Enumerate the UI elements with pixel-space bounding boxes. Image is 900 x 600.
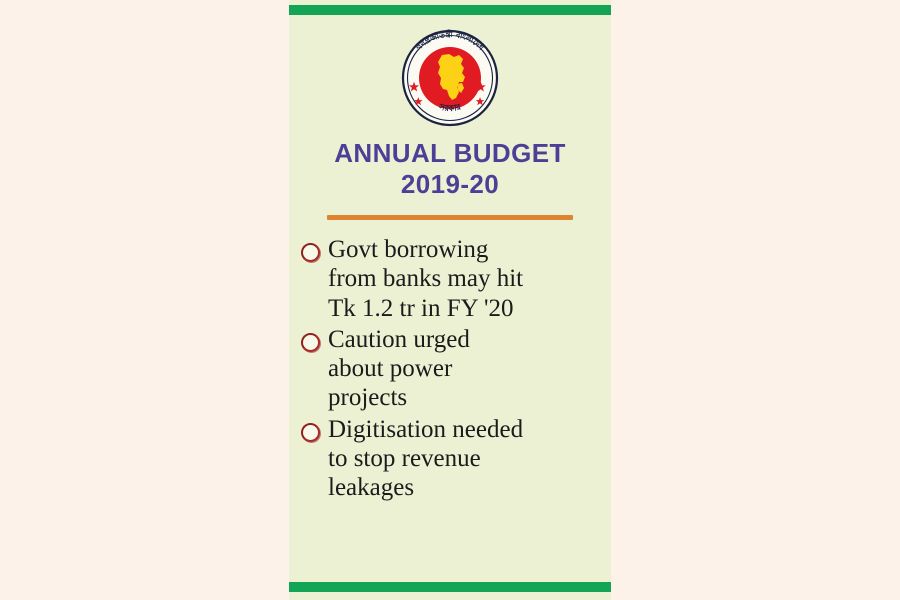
bullet-circle-icon — [301, 333, 320, 352]
list-item[interactable]: Govt borrowing from banks may hit Tk 1.2… — [301, 235, 599, 323]
page-root: গণপ্রজাতন্ত্রী বাংলাদেশ সরকার — [0, 0, 900, 600]
bullet-circle-icon — [301, 243, 320, 262]
headline-text: Digitisation needed to stop revenue leak… — [328, 415, 523, 503]
list-item[interactable]: Digitisation needed to stop revenue leak… — [301, 415, 599, 503]
bottom-green-rule — [289, 582, 611, 592]
headline-text: Govt borrowing from banks may hit Tk 1.2… — [328, 235, 523, 323]
headline-list: Govt borrowing from banks may hit Tk 1.2… — [289, 235, 611, 504]
orange-divider — [327, 215, 573, 220]
title-line-fiscal-year: 2019-20 — [334, 170, 566, 198]
card-body: গণপ্রজাতন্ত্রী বাংলাদেশ সরকার — [289, 15, 611, 582]
annual-budget-card: গণপ্রজাতন্ত্রী বাংলাদেশ সরকার — [289, 0, 611, 600]
government-of-bangladesh-emblem: গণপ্রজাতন্ত্রী বাংলাদেশ সরকার — [395, 23, 505, 133]
bullet-circle-icon — [301, 423, 320, 442]
top-green-rule — [289, 5, 611, 15]
headline-text: Caution urged about power projects — [328, 325, 470, 413]
page-title: ANNUAL BUDGET 2019-20 — [334, 139, 566, 198]
list-item[interactable]: Caution urged about power projects — [301, 325, 599, 413]
title-line-annual-budget: ANNUAL BUDGET — [334, 139, 566, 167]
